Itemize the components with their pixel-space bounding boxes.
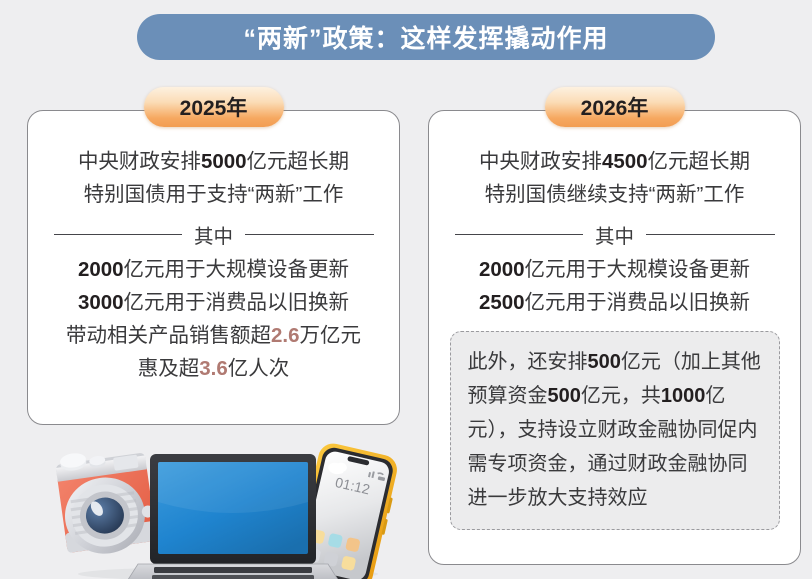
note-amount: 1000	[661, 385, 706, 407]
result-suffix: 万亿元	[300, 324, 362, 347]
headline-suffix: 亿元超长期	[247, 150, 350, 173]
year-badge-2025-label: 2025年	[180, 92, 248, 122]
result-highlight-value: 3.6	[199, 357, 228, 380]
detail-suffix: 亿元用于消费品以旧换新	[124, 291, 350, 314]
card-2025: 2025年 中央财政安排5000亿元超长期 特别国债用于支持“两新”工作 其中 …	[27, 110, 400, 425]
detail-amount: 2000	[479, 258, 525, 281]
divider-rule-left	[455, 234, 584, 235]
camera-icon	[54, 443, 159, 559]
result-highlight-value: 2.6	[271, 324, 300, 347]
card-2025-body: 中央财政安排5000亿元超长期 特别国债用于支持“两新”工作 其中 2000亿元…	[28, 111, 399, 395]
note-amount: 500	[588, 351, 621, 373]
year-badge-2025: 2025年	[144, 87, 284, 127]
headline-prefix: 中央财政安排	[479, 150, 602, 173]
card-2026: 2026年 中央财政安排4500亿元超长期 特别国债继续支持“两新”工作 其中 …	[428, 110, 801, 565]
card-2025-divider-label: 其中	[182, 220, 245, 249]
divider-rule-right	[245, 234, 374, 235]
card-2026-note-text: 此外，还安排500亿元（加上其他预算资金500亿元，共1000亿元），支持设立财…	[468, 345, 762, 515]
divider-rule-right	[646, 234, 775, 235]
devices-illustration: 01:12	[42, 432, 414, 579]
headline-prefix: 中央财政安排	[78, 150, 201, 173]
detail-amount: 2500	[479, 291, 525, 314]
detail-suffix: 亿元用于大规模设备更新	[124, 258, 350, 281]
card-2025-divider: 其中	[54, 220, 374, 249]
result-prefix: 惠及超	[138, 357, 200, 380]
card-2025-headline-line-2: 特别国债用于支持“两新”工作	[84, 178, 344, 211]
infographic-root: “两新”政策：这样发挥撬动作用 2025年 中央财政安排5000亿元超长期 特别…	[0, 0, 812, 579]
note-segment: 亿元（加上其	[621, 351, 741, 373]
result-suffix: 亿人次	[228, 357, 290, 380]
card-2026-detail-line-2: 2500亿元用于消费品以旧换新	[479, 286, 750, 319]
card-2026-note-box: 此外，还安排500亿元（加上其他预算资金500亿元，共1000亿元），支持设立财…	[450, 331, 780, 530]
headline-amount: 5000	[201, 150, 247, 173]
card-2026-body: 中央财政安排4500亿元超长期 特别国债继续支持“两新”工作 其中 2000亿元…	[429, 111, 800, 540]
detail-suffix: 亿元用于消费品以旧换新	[525, 291, 751, 314]
headline-suffix: 亿元超长期	[648, 150, 751, 173]
detail-amount: 2000	[78, 258, 124, 281]
divider-rule-left	[54, 234, 183, 235]
card-2025-result-line-1: 带动相关产品销售额超2.6万亿元	[66, 319, 361, 352]
card-2026-detail-line-1: 2000亿元用于大规模设备更新	[479, 253, 750, 286]
card-2025-detail-line-2: 3000亿元用于消费品以旧换新	[78, 286, 349, 319]
card-2026-divider-label: 其中	[583, 220, 646, 249]
note-segment: 亿元，共	[581, 385, 661, 407]
year-badge-2026-label: 2026年	[581, 92, 649, 122]
year-badge-2026: 2026年	[545, 87, 685, 127]
laptop-icon	[124, 454, 342, 579]
page-title: “两新”政策：这样发挥撬动作用	[243, 19, 608, 55]
card-2026-divider: 其中	[455, 220, 775, 249]
detail-amount: 3000	[78, 291, 124, 314]
card-2025-headline-line-1: 中央财政安排5000亿元超长期	[78, 145, 349, 178]
result-prefix: 带动相关产品销售额超	[66, 324, 271, 347]
page-title-bar: “两新”政策：这样发挥撬动作用	[137, 14, 715, 60]
card-2025-detail-line-1: 2000亿元用于大规模设备更新	[78, 253, 349, 286]
note-segment: 此外，还安排	[468, 351, 588, 373]
laptop-keyboard	[152, 567, 314, 579]
card-2026-headline-line-1: 中央财政安排4500亿元超长期	[479, 145, 750, 178]
detail-suffix: 亿元用于大规模设备更新	[525, 258, 751, 281]
headline-amount: 4500	[602, 150, 648, 173]
card-2026-headline-line-2: 特别国债继续支持“两新”工作	[485, 178, 745, 211]
note-amount: 500	[548, 385, 581, 407]
card-2025-result-line-2: 惠及超3.6亿人次	[138, 352, 290, 385]
